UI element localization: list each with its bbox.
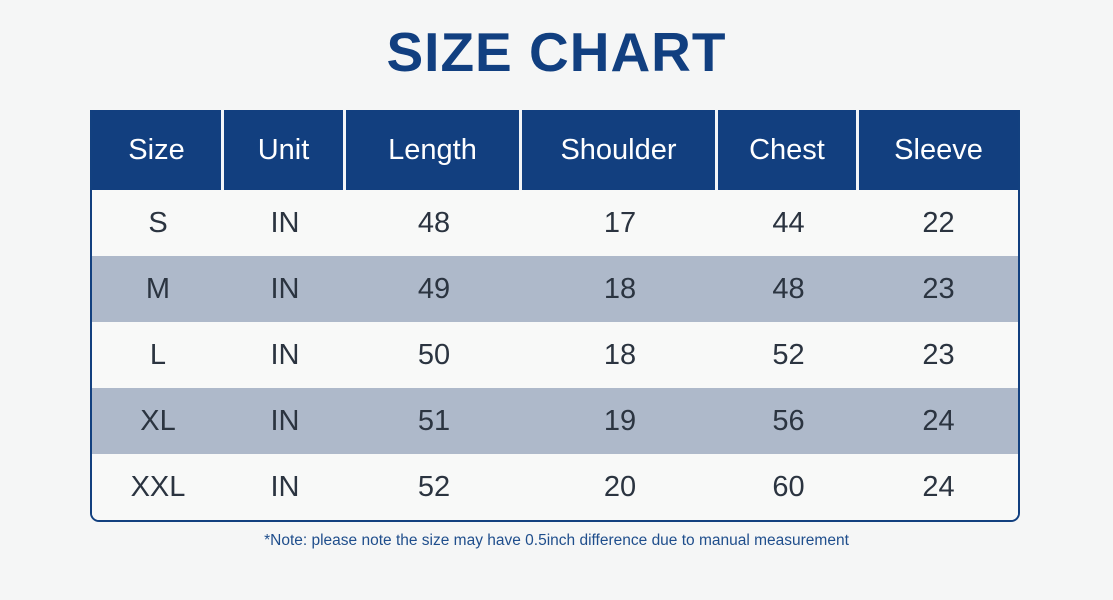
cell-length: 48: [346, 190, 522, 256]
column-header-sleeve: Sleeve: [859, 110, 1018, 190]
cell-shoulder: 17: [522, 190, 718, 256]
cell-length: 50: [346, 322, 522, 388]
cell-sleeve: 23: [859, 322, 1018, 388]
cell-chest: 44: [718, 190, 859, 256]
table-row: M IN 49 18 48 23: [92, 256, 1018, 322]
cell-size: XL: [92, 388, 224, 454]
table-header: Size Unit Length Shoulder Chest Sleeve: [92, 110, 1018, 190]
table-row: L IN 50 18 52 23: [92, 322, 1018, 388]
cell-length: 49: [346, 256, 522, 322]
cell-unit: IN: [224, 454, 346, 520]
cell-chest: 52: [718, 322, 859, 388]
column-header-unit: Unit: [224, 110, 346, 190]
cell-shoulder: 18: [522, 256, 718, 322]
table-header-row: Size Unit Length Shoulder Chest Sleeve: [92, 110, 1018, 190]
column-header-length: Length: [346, 110, 522, 190]
cell-size: S: [92, 190, 224, 256]
table-row: XL IN 51 19 56 24: [92, 388, 1018, 454]
cell-size: M: [92, 256, 224, 322]
cell-size: L: [92, 322, 224, 388]
column-header-chest: Chest: [718, 110, 859, 190]
page-title: SIZE CHART: [387, 19, 727, 85]
cell-chest: 48: [718, 256, 859, 322]
cell-chest: 56: [718, 388, 859, 454]
cell-sleeve: 22: [859, 190, 1018, 256]
measurement-note: *Note: please note the size may have 0.5…: [0, 531, 1113, 551]
cell-unit: IN: [224, 256, 346, 322]
cell-length: 52: [346, 454, 522, 520]
cell-sleeve: 23: [859, 256, 1018, 322]
cell-size: XXL: [92, 454, 224, 520]
table-body: S IN 48 17 44 22 M IN 49 18 48 23 L: [92, 190, 1018, 520]
cell-shoulder: 18: [522, 322, 718, 388]
cell-shoulder: 19: [522, 388, 718, 454]
cell-unit: IN: [224, 322, 346, 388]
cell-chest: 60: [718, 454, 859, 520]
column-header-shoulder: Shoulder: [522, 110, 718, 190]
cell-sleeve: 24: [859, 454, 1018, 520]
size-chart-page: SIZE CHART Size Unit Length Shoulder Che…: [0, 0, 1113, 600]
table-row: XXL IN 52 20 60 24: [92, 454, 1018, 520]
cell-length: 51: [346, 388, 522, 454]
cell-shoulder: 20: [522, 454, 718, 520]
cell-unit: IN: [224, 388, 346, 454]
cell-sleeve: 24: [859, 388, 1018, 454]
table-row: S IN 48 17 44 22: [92, 190, 1018, 256]
size-chart-table: Size Unit Length Shoulder Chest Sleeve S…: [90, 110, 1020, 522]
column-header-size: Size: [92, 110, 224, 190]
size-chart-table-wrapper: Size Unit Length Shoulder Chest Sleeve S…: [90, 110, 1016, 522]
cell-unit: IN: [224, 190, 346, 256]
